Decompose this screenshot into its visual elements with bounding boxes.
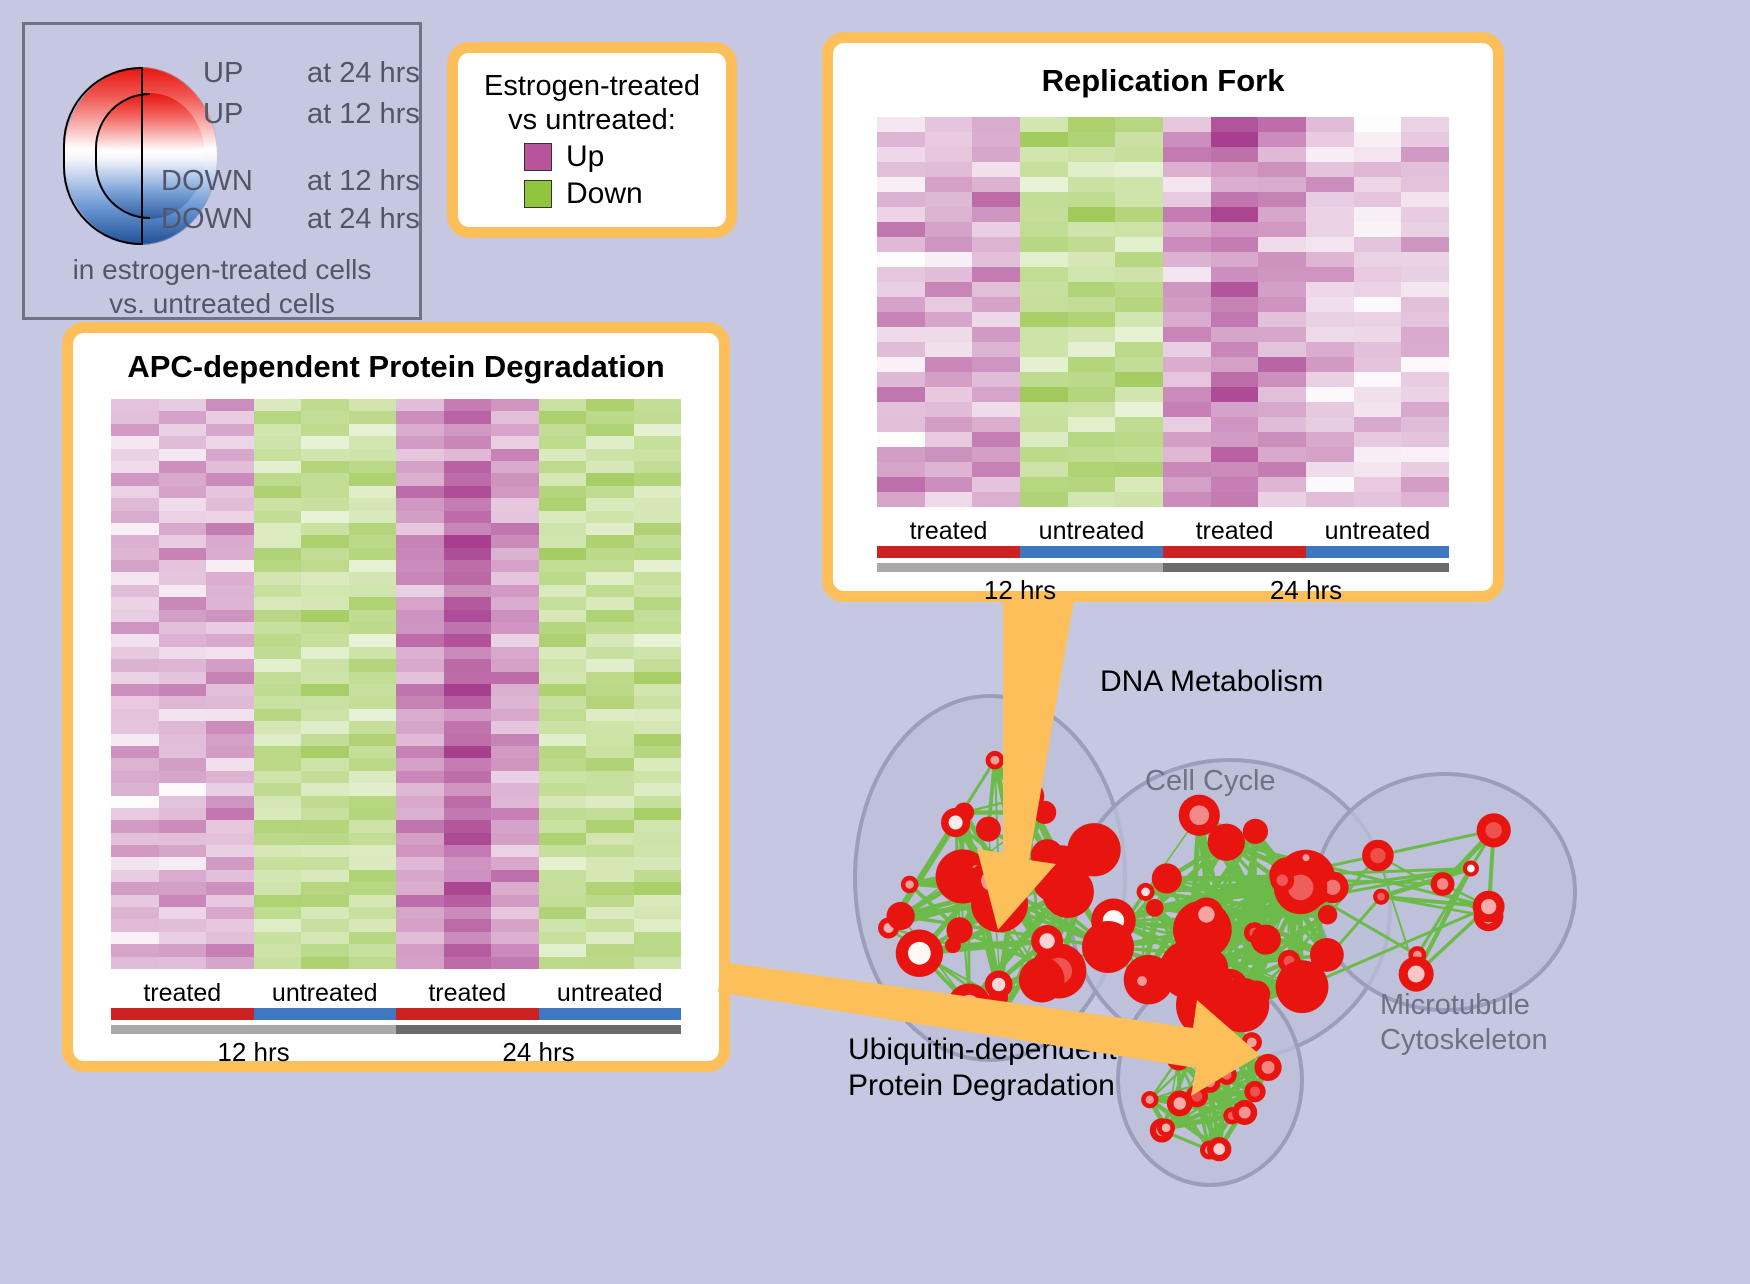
- heatmap-cell: [349, 696, 397, 708]
- heatmap-cell: [159, 610, 207, 622]
- rf-group-label-3: untreated: [1306, 517, 1449, 546]
- heatmap-cell: [111, 957, 159, 969]
- heatmap-cell: [111, 498, 159, 510]
- heatmap-cell: [491, 857, 539, 869]
- heatmap-cell: [444, 399, 492, 411]
- heatmap-cell: [539, 473, 587, 485]
- heatmap-cell: [634, 684, 682, 696]
- time-band-segment: [111, 1025, 396, 1034]
- rf-group-labels: treated untreated treated untreated: [877, 517, 1449, 546]
- heatmap-cell: [206, 672, 254, 684]
- heatmap-cell: [206, 746, 254, 758]
- treatment-band-segment: [111, 1008, 254, 1020]
- heatmap-cell: [254, 758, 302, 770]
- heatmap-cell: [539, 696, 587, 708]
- heatmap-cell: [396, 895, 444, 907]
- heatmap-cell: [877, 117, 925, 132]
- heatmap-cell: [159, 622, 207, 634]
- heatmap-cell: [925, 237, 973, 252]
- heatmap-cell: [1068, 492, 1116, 507]
- heatmap-cell: [349, 746, 397, 758]
- heatmap-cell: [111, 610, 159, 622]
- heatmap-cell: [1115, 282, 1163, 297]
- heatmap-cell: [206, 957, 254, 969]
- heatmap-cell: [1020, 357, 1068, 372]
- heatmap-cell: [1020, 387, 1068, 402]
- heatmap-cell: [1211, 207, 1259, 222]
- heatmap-cell: [159, 833, 207, 845]
- heatmap-cell: [1258, 432, 1306, 447]
- heatmap-cell: [396, 560, 444, 572]
- heatmap-cell: [586, 808, 634, 820]
- heatmap-cell: [349, 919, 397, 931]
- network-node-core: [1370, 848, 1385, 863]
- heatmap-cell: [1401, 492, 1449, 507]
- network-node-core: [908, 942, 931, 965]
- heatmap-cell: [396, 486, 444, 498]
- heatmap-cell: [539, 622, 587, 634]
- heatmap-cell: [111, 783, 159, 795]
- heatmap-cell: [111, 535, 159, 547]
- heatmap-cell: [925, 117, 973, 132]
- heatmap-cell: [159, 957, 207, 969]
- heatmap-cell: [254, 907, 302, 919]
- heatmap-cell: [634, 548, 682, 560]
- heatmap-cell: [877, 462, 925, 477]
- heatmap-cell: [1020, 222, 1068, 237]
- heatmap-cell: [301, 548, 349, 560]
- heatmap-cell: [925, 342, 973, 357]
- heatmap-cell: [159, 721, 207, 733]
- heatmap-cell: [111, 944, 159, 956]
- heatmap-cell: [972, 357, 1020, 372]
- heatmap-cell: [159, 523, 207, 535]
- heatmap-cell: [1306, 177, 1354, 192]
- heatmap-cell: [1115, 327, 1163, 342]
- heatmap-cell: [1211, 192, 1259, 207]
- heatmap-cell: [444, 734, 492, 746]
- heatmap-cell: [396, 758, 444, 770]
- heatmap-cell: [877, 132, 925, 147]
- heatmap-cell: [491, 746, 539, 758]
- heatmap-cell: [206, 944, 254, 956]
- network-node[interactable]: [1176, 971, 1244, 1039]
- heatmap-cell: [1306, 492, 1354, 507]
- network-node-core: [992, 978, 1005, 991]
- heatmap-cell: [1163, 372, 1211, 387]
- heatmap-cell: [634, 783, 682, 795]
- heatmap-cell: [877, 492, 925, 507]
- network-node[interactable]: [976, 817, 1001, 842]
- heatmap-cell: [349, 399, 397, 411]
- network-node-core: [1485, 822, 1501, 838]
- heatmap-cell: [1354, 462, 1402, 477]
- apc-axis: treated untreated treated untreated 12 h…: [111, 979, 681, 1068]
- heatmap-cell: [877, 372, 925, 387]
- heatmap-cell: [634, 845, 682, 857]
- heatmap-cell: [634, 808, 682, 820]
- heatmap-cell: [634, 696, 682, 708]
- heatmap-cell: [634, 709, 682, 721]
- heatmap-cell: [1401, 282, 1449, 297]
- heatmap-cell: [1354, 492, 1402, 507]
- heatmap-cell: [301, 845, 349, 857]
- heatmap-cell: [349, 820, 397, 832]
- heatmap-cell: [925, 282, 973, 297]
- heatmap-cell: [206, 734, 254, 746]
- heatmap-cell: [301, 523, 349, 535]
- heatmap-cell: [396, 622, 444, 634]
- heatmap-cell: [586, 634, 634, 646]
- heatmap-cell: [254, 783, 302, 795]
- heatmap-cell: [1401, 462, 1449, 477]
- heatmap-cell: [1306, 267, 1354, 282]
- network-node[interactable]: [1152, 863, 1182, 893]
- network-node-core: [1303, 854, 1310, 861]
- heatmap-cell: [491, 659, 539, 671]
- heatmap-cell: [301, 436, 349, 448]
- heatmap-cell: [301, 449, 349, 461]
- heatmap-cell: [444, 461, 492, 473]
- heatmap-cell: [1115, 237, 1163, 252]
- heatmap-cell: [1068, 222, 1116, 237]
- heatmap-cell: [159, 895, 207, 907]
- heatmap-cell: [877, 432, 925, 447]
- heatmap-cell: [1115, 177, 1163, 192]
- heatmap-cell: [349, 560, 397, 572]
- heatmap-cell: [1401, 297, 1449, 312]
- network-node[interactable]: [1146, 899, 1164, 917]
- heatmap-cell: [1258, 342, 1306, 357]
- heatmap-cell: [491, 473, 539, 485]
- heatmap-cell: [925, 432, 973, 447]
- heatmap-cell: [1020, 402, 1068, 417]
- heatmap-cell: [396, 449, 444, 461]
- heatmap-cell: [1258, 477, 1306, 492]
- heatmap-cell: [1068, 357, 1116, 372]
- heatmap-cell: [1354, 402, 1402, 417]
- heatmap-cell: [1115, 207, 1163, 222]
- heatmap-cell: [206, 845, 254, 857]
- heatmap-cell: [586, 610, 634, 622]
- heatmap-cell: [972, 462, 1020, 477]
- heatmap-cell: [159, 647, 207, 659]
- heatmap-cell: [877, 282, 925, 297]
- heatmap-cell: [1020, 447, 1068, 462]
- heatmap-cell: [254, 944, 302, 956]
- network-node-core: [1192, 1091, 1203, 1102]
- heatmap-cell: [1020, 477, 1068, 492]
- heatmap-cell: [111, 572, 159, 584]
- heatmap-cell: [444, 957, 492, 969]
- network-node[interactable]: [1278, 969, 1318, 1009]
- heatmap-cell: [491, 634, 539, 646]
- heatmap-cell: [254, 709, 302, 721]
- heatmap-cell: [539, 808, 587, 820]
- heatmap-cell: [301, 399, 349, 411]
- heatmap-cell: [1258, 252, 1306, 267]
- heatmap-cell: [1163, 117, 1211, 132]
- network-svg: [790, 620, 1750, 1279]
- heatmap-cell: [1306, 237, 1354, 252]
- network-node[interactable]: [1243, 819, 1268, 844]
- heatmap-cell: [301, 758, 349, 770]
- treatment-band-segment: [254, 1008, 397, 1020]
- heatmap-cell: [1163, 477, 1211, 492]
- heatmap-cell: [396, 932, 444, 944]
- heatmap-cell: [349, 622, 397, 634]
- heatmap-cell: [159, 535, 207, 547]
- heatmap-cell: [586, 783, 634, 795]
- heatmap-cell: [586, 734, 634, 746]
- heatmap-cell: [586, 771, 634, 783]
- heatmap-cell: [539, 511, 587, 523]
- heatmap-cell: [1115, 117, 1163, 132]
- heatmap-cell: [349, 833, 397, 845]
- heatmap-cell: [301, 734, 349, 746]
- heatmap-cell: [444, 449, 492, 461]
- network-node[interactable]: [887, 902, 915, 930]
- heatmap-cell: [925, 312, 973, 327]
- heatmap-cell: [301, 647, 349, 659]
- color-key-box: UP at 24 hrs UP at 12 hrs DOWN at 12 hrs…: [22, 22, 422, 320]
- heatmap-cell: [301, 721, 349, 733]
- heatmap-cell: [1115, 462, 1163, 477]
- heatmap-cell: [349, 597, 397, 609]
- heatmap-cell: [925, 417, 973, 432]
- heatmap-cell: [1401, 447, 1449, 462]
- heatmap-cell: [349, 709, 397, 721]
- heatmap-cell: [206, 461, 254, 473]
- rf-time-band: [877, 563, 1449, 572]
- heatmap-cell: [444, 833, 492, 845]
- heatmap-cell: [539, 957, 587, 969]
- heatmap-cell: [1020, 132, 1068, 147]
- heatmap-cell: [159, 734, 207, 746]
- heatmap-cell: [159, 746, 207, 758]
- heatmap-cell: [491, 734, 539, 746]
- heatmap-cell: [491, 436, 539, 448]
- heatmap-cell: [539, 610, 587, 622]
- heatmap-cell: [111, 622, 159, 634]
- heatmap-cell: [1211, 372, 1259, 387]
- cluster-label-cell-cycle: Cell Cycle: [1145, 765, 1276, 798]
- heatmap-cell: [1258, 237, 1306, 252]
- network-node-core: [1141, 888, 1150, 897]
- heatmap-cell: [301, 932, 349, 944]
- heatmap-cell: [539, 734, 587, 746]
- heatmap-cell: [1020, 252, 1068, 267]
- network-node[interactable]: [1042, 866, 1094, 918]
- heatmap-cell: [159, 808, 207, 820]
- heatmap-cell: [349, 672, 397, 684]
- heatmap-cell: [206, 721, 254, 733]
- heatmap-cell: [586, 845, 634, 857]
- heatmap-cell: [396, 498, 444, 510]
- heatmap-cell: [159, 845, 207, 857]
- apc-panel-title: APC-dependent Protein Degradation: [73, 349, 719, 385]
- heatmap-cell: [396, 721, 444, 733]
- heatmap-cell: [539, 560, 587, 572]
- heatmap-cell: [586, 672, 634, 684]
- heatmap-cell: [1306, 192, 1354, 207]
- heatmap-cell: [1020, 492, 1068, 507]
- heatmap-cell: [301, 560, 349, 572]
- apc-group-label-2: treated: [396, 979, 539, 1008]
- heatmap-cell: [444, 585, 492, 597]
- heatmap-cell: [111, 845, 159, 857]
- heatmap-cell: [972, 132, 1020, 147]
- network-node-core: [1039, 933, 1054, 948]
- heatmap-cell: [1354, 372, 1402, 387]
- heatmap-cell: [444, 882, 492, 894]
- heatmap-cell: [396, 709, 444, 721]
- heatmap-cell: [254, 572, 302, 584]
- heatmap-cell: [586, 870, 634, 882]
- heatmap-cell: [586, 919, 634, 931]
- heatmap-cell: [1163, 462, 1211, 477]
- heatmap-cell: [491, 498, 539, 510]
- heatmap-cell: [1306, 462, 1354, 477]
- heatmap-cell: [586, 597, 634, 609]
- heatmap-cell: [1211, 462, 1259, 477]
- heatmap-cell: [491, 870, 539, 882]
- heatmap-cell: [396, 796, 444, 808]
- heatmap-cell: [1163, 297, 1211, 312]
- heatmap-cell: [1020, 207, 1068, 222]
- heatmap-cell: [539, 647, 587, 659]
- heatmap-cell: [206, 696, 254, 708]
- heatmap-cell: [491, 486, 539, 498]
- heatmap-cell: [301, 746, 349, 758]
- apc-group-label-3: untreated: [539, 979, 682, 1008]
- heatmap-cell: [1068, 177, 1116, 192]
- heatmap-cell: [586, 473, 634, 485]
- heatmap-cell: [1401, 117, 1449, 132]
- heatmap-cell: [159, 783, 207, 795]
- network-node[interactable]: [1208, 824, 1245, 861]
- heatmap-cell: [1401, 267, 1449, 282]
- heatmap-cell: [877, 162, 925, 177]
- heatmap-cell: [301, 709, 349, 721]
- heatmap-cell: [396, 833, 444, 845]
- heatmap-cell: [444, 758, 492, 770]
- heatmap-cell: [1401, 312, 1449, 327]
- heatmap-cell: [301, 944, 349, 956]
- heatmap-cell: [444, 907, 492, 919]
- heatmap-cell: [539, 672, 587, 684]
- heatmap-cell: [1354, 447, 1402, 462]
- heatmap-cell: [586, 957, 634, 969]
- network-node[interactable]: [1251, 925, 1281, 955]
- heatmap-cell: [877, 357, 925, 372]
- heatmap-cell: [1401, 402, 1449, 417]
- network-node[interactable]: [1082, 921, 1134, 973]
- heatmap-cell: [159, 659, 207, 671]
- heatmap-cell: [396, 672, 444, 684]
- heatmap-cell: [159, 424, 207, 436]
- heatmap-cell: [349, 572, 397, 584]
- heatmap-cell: [111, 870, 159, 882]
- heatmap-cell: [254, 932, 302, 944]
- apc-group-label-0: treated: [111, 979, 254, 1008]
- heatmap-cell: [1401, 477, 1449, 492]
- apc-group-label-1: untreated: [254, 979, 397, 1008]
- network-node[interactable]: [946, 917, 972, 943]
- heatmap-cell: [111, 857, 159, 869]
- heatmap-cell: [396, 585, 444, 597]
- heatmap-cell: [396, 548, 444, 560]
- heatmap-cell: [1258, 177, 1306, 192]
- network-node-core: [1250, 1086, 1260, 1096]
- heatmap-cell: [206, 647, 254, 659]
- heatmap-cell: [349, 548, 397, 560]
- heatmap-cell: [539, 721, 587, 733]
- heatmap-cell: [1115, 132, 1163, 147]
- heatmap-cell: [254, 597, 302, 609]
- heatmap-cell: [396, 399, 444, 411]
- heatmap-cell: [254, 734, 302, 746]
- heatmap-cell: [925, 492, 973, 507]
- heatmap-cell: [539, 771, 587, 783]
- heatmap-cell: [586, 907, 634, 919]
- heatmap-cell: [1258, 132, 1306, 147]
- heatmap-cell: [206, 882, 254, 894]
- heatmap-cell: [1068, 297, 1116, 312]
- heatmap-cell: [1401, 372, 1449, 387]
- network-node[interactable]: [1318, 905, 1337, 924]
- heatmap-cell: [1068, 237, 1116, 252]
- heatmap-cell: [1211, 177, 1259, 192]
- heatmap-cell: [254, 622, 302, 634]
- heatmap-cell: [1258, 222, 1306, 237]
- heatmap-cell: [586, 820, 634, 832]
- heatmap-cell: [1068, 447, 1116, 462]
- heatmap-cell: [396, 696, 444, 708]
- heatmap-cell: [877, 252, 925, 267]
- heatmap-cell: [925, 222, 973, 237]
- heatmap-cell: [254, 721, 302, 733]
- heatmap-cell: [111, 411, 159, 423]
- heatmap-cell: [254, 870, 302, 882]
- heatmap-cell: [634, 610, 682, 622]
- heatmap-cell: [539, 857, 587, 869]
- network-node[interactable]: [1019, 957, 1064, 1002]
- heatmap-cell: [206, 610, 254, 622]
- heatmap-cell: [586, 436, 634, 448]
- heatmap-cell: [1068, 432, 1116, 447]
- heatmap-cell: [972, 207, 1020, 222]
- heatmap-cell: [254, 857, 302, 869]
- heatmap-cell: [1211, 327, 1259, 342]
- color-key-caption: in estrogen-treated cells vs. untreated …: [25, 253, 419, 321]
- heatmap-cell: [254, 957, 302, 969]
- rf-group-label-1: untreated: [1020, 517, 1163, 546]
- heatmap-cell: [1068, 342, 1116, 357]
- heatmap-cell: [1211, 387, 1259, 402]
- heatmap-cell: [1354, 387, 1402, 402]
- heatmap-cell: [111, 585, 159, 597]
- heatmap-cell: [1068, 267, 1116, 282]
- heatmap-cell: [972, 327, 1020, 342]
- heatmap-cell: [1401, 237, 1449, 252]
- heatmap-cell: [1306, 282, 1354, 297]
- heatmap-cell: [1115, 417, 1163, 432]
- heatmap-cell: [254, 486, 302, 498]
- heatmap-cell: [301, 808, 349, 820]
- heatmap-cell: [349, 857, 397, 869]
- heatmap-cell: [1163, 237, 1211, 252]
